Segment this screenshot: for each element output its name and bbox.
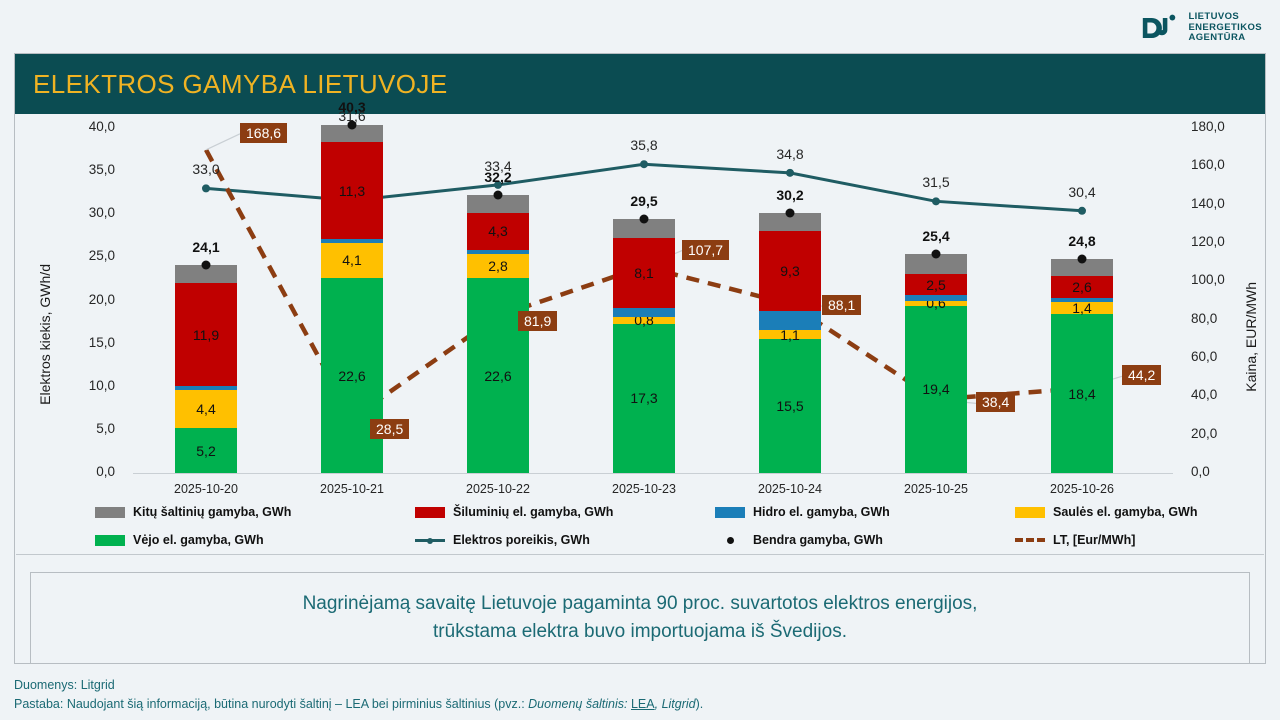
x-tick-label: 2025-10-23: [612, 482, 676, 496]
bar-segment-label: 18,4: [1051, 386, 1113, 402]
bar-segment[interactable]: [905, 295, 967, 300]
y-tick-left: 5,0: [59, 421, 115, 436]
legend-label: Hidro el. gamyba, GWh: [753, 505, 890, 519]
bar-segment[interactable]: 2,5: [905, 274, 967, 296]
legend-solar[interactable]: Saulės el. gamyba, GWh: [1015, 505, 1198, 519]
total-marker: [494, 191, 503, 200]
legend-label: Saulės el. gamyba, GWh: [1053, 505, 1198, 519]
bar-segment-label: 11,9: [175, 327, 237, 343]
x-tick-label: 2025-10-26: [1050, 482, 1114, 496]
bar-segment[interactable]: 15,5: [759, 339, 821, 473]
legend-label: Kitų šaltinių gamyba, GWh: [133, 505, 291, 519]
legend-swatch-icon: [1015, 507, 1045, 518]
y-tick-right: 160,0: [1191, 157, 1251, 172]
total-marker: [932, 249, 941, 258]
legend-demand[interactable]: Elektros poreikis, GWh: [415, 533, 590, 547]
y-tick-left: 20,0: [59, 292, 115, 307]
y-tick-left: 25,0: [59, 248, 115, 263]
footer-note-em: Duomenų šaltinis:: [528, 697, 631, 711]
y-tick-left: 35,0: [59, 162, 115, 177]
total-label: 30,2: [776, 187, 803, 203]
caption-line-1: Nagrinėjamą savaitę Lietuvoje pagaminta …: [303, 593, 978, 615]
legend-label: LT, [Eur/MWh]: [1053, 533, 1135, 547]
lea-logo-text: LIETUVOS ENERGETIKOS AGENTŪRA: [1188, 12, 1262, 44]
bar-segment[interactable]: 19,4: [905, 306, 967, 473]
bar-segment[interactable]: 22,6: [467, 278, 529, 473]
y-tick-left: 0,0: [59, 464, 115, 479]
demand-label: 33,0: [192, 161, 219, 177]
bar-segment-label: 22,6: [321, 368, 383, 384]
bar-segment[interactable]: 4,3: [467, 213, 529, 250]
legend-label: Vėjo el. gamyba, GWh: [133, 533, 264, 547]
legend-wind[interactable]: Vėjo el. gamyba, GWh: [95, 533, 264, 547]
price-label: 81,9: [518, 311, 557, 331]
bar-segment-label: 9,3: [759, 263, 821, 279]
y-tick-right: 140,0: [1191, 196, 1251, 211]
footer-note-b: ).: [696, 697, 704, 711]
legend-divider: [16, 554, 1264, 555]
demand-label: 30,4: [1068, 184, 1095, 200]
bar-segment-label: 2,5: [905, 277, 967, 293]
bar-segment-label: 19,4: [905, 381, 967, 397]
bar-segment-label: 4,3: [467, 223, 529, 239]
legend-total[interactable]: Bendra gamyba, GWh: [715, 533, 883, 547]
bar-stack[interactable]: 18,41,42,6: [1051, 128, 1113, 473]
card-title-bar: ELEKTROS GAMYBA LIETUVOJE: [15, 54, 1265, 114]
bar-stack[interactable]: 15,51,19,3: [759, 128, 821, 473]
demand-label: 35,8: [630, 137, 657, 153]
caption-line-2: trūkstama elektra buvo importuojama iš Š…: [433, 621, 847, 643]
y-tick-left: 40,0: [59, 119, 115, 134]
legend-dashed-line-icon: [1015, 538, 1045, 542]
footer-source: Duomenys: Litgrid: [14, 676, 703, 695]
y-tick-right: 40,0: [1191, 387, 1251, 402]
legend-swatch-icon: [95, 507, 125, 518]
bar-segment-label: 11,3: [321, 183, 383, 199]
price-label: 88,1: [822, 295, 861, 315]
total-marker: [640, 214, 649, 223]
y-tick-right: 0,0: [1191, 464, 1251, 479]
legend-swatch-icon: [715, 507, 745, 518]
x-tick-label: 2025-10-21: [320, 482, 384, 496]
lea-link[interactable]: LEA: [631, 697, 655, 711]
caption-panel: Nagrinėjamą savaitę Lietuvoje pagaminta …: [30, 572, 1250, 664]
bar-segment-label: 4,4: [175, 401, 237, 417]
price-label: 168,6: [240, 123, 287, 143]
bar-segment[interactable]: 4,1: [321, 243, 383, 278]
price-label: 44,2: [1122, 365, 1161, 385]
logo-line-3: AGENTŪRA: [1188, 33, 1262, 44]
legend-swatch-icon: [95, 535, 125, 546]
bar-segment[interactable]: [321, 239, 383, 242]
y-tick-left: 10,0: [59, 378, 115, 393]
total-marker: [1078, 255, 1087, 264]
legend-price[interactable]: LT, [Eur/MWh]: [1015, 533, 1135, 547]
chart-legend: Kitų šaltinių gamyba, GWhŠiluminių el. g…: [15, 497, 1265, 553]
y-tick-left: 15,0: [59, 335, 115, 350]
chart-area: Elektros kiekis, GWh/d Kaina, EUR/MWh 0,…: [15, 114, 1265, 554]
bar-segment[interactable]: 0,6: [905, 301, 967, 306]
bar-segment[interactable]: 11,9: [175, 283, 237, 386]
bar-segment[interactable]: 5,2: [175, 428, 237, 473]
bar-segment[interactable]: 8,1: [613, 238, 675, 308]
total-label: 24,8: [1068, 233, 1095, 249]
bar-segment[interactable]: [1051, 298, 1113, 302]
bar-segment-label: 5,2: [175, 443, 237, 459]
y-tick-right: 80,0: [1191, 311, 1251, 326]
legend-dot-icon: [715, 535, 745, 546]
page-title: ELEKTROS GAMYBA LIETUVOJE: [33, 69, 448, 100]
total-label: 24,1: [192, 239, 219, 255]
demand-label: 34,8: [776, 146, 803, 162]
bar-segment-label: 8,1: [613, 265, 675, 281]
x-axis-line: [133, 473, 1173, 474]
legend-swatch-icon: [415, 507, 445, 518]
lea-logo-mark: [1141, 12, 1181, 44]
y-axis-title-right: Kaina, EUR/MWh: [1243, 282, 1259, 392]
legend-label: Bendra gamyba, GWh: [753, 533, 883, 547]
legend-label: Šiluminių el. gamyba, GWh: [453, 505, 613, 519]
bar-segment[interactable]: [759, 311, 821, 330]
bar-segment-label: 17,3: [613, 390, 675, 406]
bar-stack[interactable]: 5,24,411,9: [175, 128, 237, 473]
bar-segment-label: 2,8: [467, 258, 529, 274]
y-tick-right: 100,0: [1191, 272, 1251, 287]
bar-segment[interactable]: 2,6: [1051, 276, 1113, 298]
x-tick-label: 2025-10-24: [758, 482, 822, 496]
total-label: 29,5: [630, 193, 657, 209]
bar-segment-label: 2,6: [1051, 279, 1113, 295]
demand-label: 31,5: [922, 174, 949, 190]
y-tick-right: 60,0: [1191, 349, 1251, 364]
demand-label: 31,6: [338, 108, 365, 124]
bar-segment[interactable]: 0,8: [613, 317, 675, 324]
bar-segment-label: 22,6: [467, 368, 529, 384]
bar-segment[interactable]: 22,6: [321, 278, 383, 473]
total-marker: [786, 208, 795, 217]
bar-stack[interactable]: 17,30,88,1: [613, 128, 675, 473]
page-root: LIETUVOS ENERGETIKOS AGENTŪRA ELEKTROS G…: [0, 0, 1280, 720]
footer: Duomenys: Litgrid Pastaba: Naudojant šią…: [14, 676, 703, 715]
footer-note: Pastaba: Naudojant šią informaciją, būti…: [14, 695, 703, 714]
bar-segment[interactable]: 17,3: [613, 324, 675, 473]
x-tick-label: 2025-10-20: [174, 482, 238, 496]
y-tick-right: 20,0: [1191, 426, 1251, 441]
bar-segment-label: 15,5: [759, 398, 821, 414]
price-label: 38,4: [976, 392, 1015, 412]
bar-segment[interactable]: 9,3: [759, 231, 821, 311]
bar-segment-label: 1,4: [1051, 300, 1113, 316]
bar-segment[interactable]: 1,4: [1051, 302, 1113, 314]
x-tick-label: 2025-10-22: [466, 482, 530, 496]
footer-note-em2: , Litgrid: [655, 697, 696, 711]
price-label: 28,5: [370, 419, 409, 439]
lea-logo: LIETUVOS ENERGETIKOS AGENTŪRA: [1141, 12, 1262, 44]
bar-segment[interactable]: 18,4: [1051, 314, 1113, 473]
bar-segment[interactable]: 1,1: [759, 330, 821, 339]
legend-thermal[interactable]: Šiluminių el. gamyba, GWh: [415, 505, 613, 519]
bar-segment-label: 4,1: [321, 252, 383, 268]
legend-line-icon: [415, 539, 445, 542]
bar-segment[interactable]: [175, 386, 237, 390]
demand-label: 33,4: [484, 158, 511, 174]
footer-note-a: Pastaba: Naudojant šią informaciją, būti…: [14, 697, 528, 711]
total-label: 25,4: [922, 228, 949, 244]
legend-hydro[interactable]: Hidro el. gamyba, GWh: [715, 505, 890, 519]
y-axis-title-left: Elektros kiekis, GWh/d: [37, 264, 53, 405]
y-tick-right: 120,0: [1191, 234, 1251, 249]
bar-segment[interactable]: [613, 308, 675, 317]
bar-segment[interactable]: [467, 250, 529, 254]
y-tick-left: 30,0: [59, 205, 115, 220]
total-marker: [202, 261, 211, 270]
x-tick-label: 2025-10-25: [904, 482, 968, 496]
bar-segment[interactable]: 11,3: [321, 142, 383, 239]
price-label: 107,7: [682, 240, 729, 260]
bar-segment[interactable]: 2,8: [467, 254, 529, 278]
chart-card: ELEKTROS GAMYBA LIETUVOJE Elektros kieki…: [14, 53, 1266, 664]
legend-label: Elektros poreikis, GWh: [453, 533, 590, 547]
y-tick-right: 180,0: [1191, 119, 1251, 134]
plot-region: 5,24,411,924,133,0168,622,64,111,340,331…: [133, 128, 1155, 473]
legend-other[interactable]: Kitų šaltinių gamyba, GWh: [95, 505, 291, 519]
bar-segment[interactable]: 4,4: [175, 390, 237, 428]
